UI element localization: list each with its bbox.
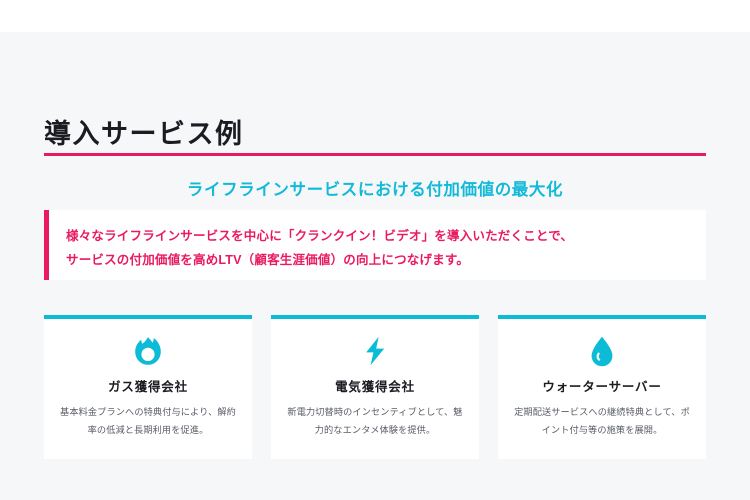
card-description: 定期配送サービスへの継続特典として、ポイント付与等の施策を展開。: [514, 404, 690, 440]
callout-body: 様々なライフラインサービスを中心に「クランクイン！ビデオ」を導入いただくことで、…: [66, 224, 696, 273]
card-heading: ガス獲得会社: [44, 376, 252, 395]
service-card-electricity[interactable]: 電気獲得会社 新電力切替時のインセンティブとして、魅力的なエンタメ体験を提供。: [271, 315, 479, 459]
title-underline-rule: [44, 153, 706, 156]
slide-subtitle: ライフラインサービスにおける付加価値の最大化: [44, 176, 706, 200]
card-top-accent-bar: [498, 315, 706, 319]
flame-icon: [44, 331, 252, 371]
callout-line-1: 様々なライフラインサービスを中心に「クランクイン！ビデオ」を導入いただくことで、: [66, 224, 696, 248]
card-heading: ウォーターサーバー: [498, 376, 706, 395]
card-description: 基本料金プランへの特典付与により、解約率の低減と長期利用を促進。: [60, 404, 236, 440]
card-description: 新電力切替時のインセンティブとして、魅力的なエンタメ体験を提供。: [287, 404, 463, 440]
card-heading: 電気獲得会社: [271, 376, 479, 395]
service-card-list: ガス獲得会社 基本料金プランへの特典付与により、解約率の低減と長期利用を促進。 …: [44, 315, 706, 459]
slide-page: 導入サービス例 ライフラインサービスにおける付加価値の最大化 様々なライフライン…: [0, 0, 750, 500]
service-card-gas[interactable]: ガス獲得会社 基本料金プランへの特典付与により、解約率の低減と長期利用を促進。: [44, 315, 252, 459]
service-card-water-server[interactable]: ウォーターサーバー 定期配送サービスへの継続特典として、ポイント付与等の施策を展…: [498, 315, 706, 459]
callout-box: 様々なライフラインサービスを中心に「クランクイン！ビデオ」を導入いただくことで、…: [44, 210, 706, 280]
water-drop-icon: [498, 331, 706, 371]
callout-accent-bar: [44, 210, 49, 280]
callout-line-2: サービスの付加価値を高めLTV（顧客生涯価値）の向上につなげます。: [66, 248, 696, 272]
card-top-accent-bar: [271, 315, 479, 319]
lightning-bolt-icon: [271, 331, 479, 371]
page-title: 導入サービス例: [44, 118, 244, 150]
slide-canvas: 導入サービス例 ライフラインサービスにおける付加価値の最大化 様々なライフライン…: [0, 32, 750, 500]
card-top-accent-bar: [44, 315, 252, 319]
